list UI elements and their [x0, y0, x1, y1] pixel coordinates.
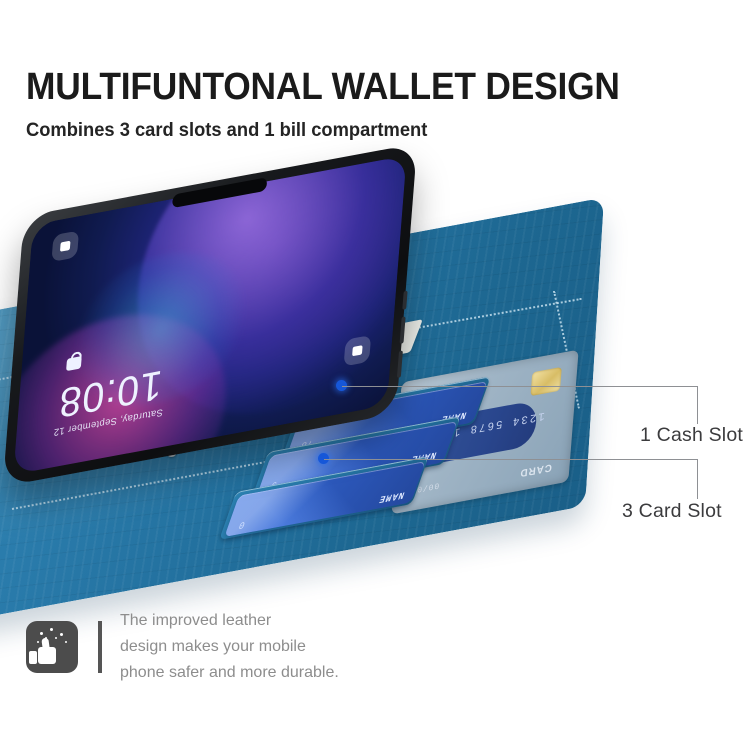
sparkle-dot — [60, 633, 63, 636]
sparkle-dot — [55, 637, 57, 639]
page-title: MULTIFUNTONAL WALLET DESIGN — [26, 68, 677, 107]
card-brand: CARD — [519, 461, 552, 478]
cash-slot-leader-horizontal — [342, 386, 698, 387]
footer-divider — [98, 621, 102, 673]
footer-text: The improved leather design makes your m… — [120, 608, 339, 686]
sparkle-dot — [37, 641, 39, 643]
cash-slot-leader-vertical — [697, 386, 698, 424]
footer-line-3: phone safer and more durable. — [120, 660, 339, 686]
card-chip — [530, 367, 561, 396]
card-slot-leader-vertical — [697, 459, 698, 499]
sparkle-dot — [45, 637, 47, 639]
footer-line-2: design makes your mobile — [120, 634, 339, 660]
card-slot-leader-horizontal — [324, 459, 698, 460]
callout-label-cash-slot: 1 Cash Slot — [640, 424, 743, 447]
card-slot-number: 0 — [238, 519, 247, 531]
callout-label-card-slot: 3 Card Slot — [622, 500, 722, 523]
header-block: MULTIFUNTONAL WALLET DESIGN Combines 3 c… — [26, 68, 726, 142]
footer-line-1: The improved leather — [120, 608, 339, 634]
product-photo: 1234 5678 1234 00/00 CARD CASH NAME 78 N… — [0, 168, 660, 600]
footer-block: The improved leather design makes your m… — [26, 608, 339, 686]
flashlight-icon[interactable] — [51, 230, 79, 262]
sparkle-dot — [65, 641, 67, 643]
page-subtitle: Combines 3 card slots and 1 bill compart… — [26, 119, 684, 142]
sparkle-dot — [50, 628, 53, 631]
thumb-shape — [38, 647, 56, 664]
sparkle-dot — [40, 632, 43, 635]
thumbs-up-icon — [26, 621, 78, 673]
product-infographic: MULTIFUNTONAL WALLET DESIGN Combines 3 c… — [0, 0, 750, 750]
card-slot-name: NAME — [378, 489, 407, 505]
